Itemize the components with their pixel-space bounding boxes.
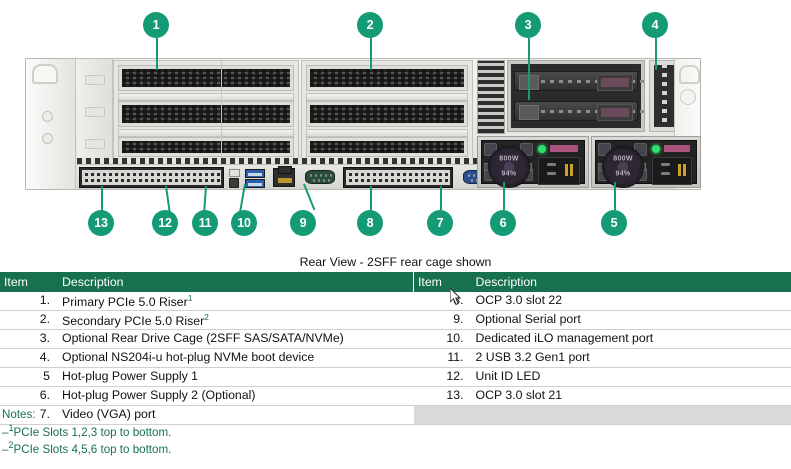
table-row: 2.Secondary PCIe 5.0 Riser29.Optional Se… (0, 311, 791, 330)
drive-cage-interior (511, 64, 641, 128)
row-description-left: Optional NS204i-u hot-plug NVMe boot dev… (58, 349, 414, 368)
header-description-left: Description (58, 272, 414, 292)
callout-1[interactable]: 1 (143, 12, 169, 38)
screw-icon (42, 133, 53, 144)
serial-port[interactable] (305, 170, 335, 184)
uid-label-icon (229, 169, 240, 177)
row-item-number-right: 9. (414, 311, 472, 330)
callout-leader-line (655, 38, 657, 70)
psu-efficiency-label: 94% (603, 171, 643, 178)
primary-pcie-riser (113, 60, 299, 160)
row-description-left: Primary PCIe 5.0 Riser1 (58, 292, 414, 311)
usb-port-lower[interactable] (245, 179, 265, 188)
slot-divider (306, 129, 468, 137)
psu-power-socket[interactable] (652, 157, 692, 185)
pcie-slot (306, 101, 468, 127)
io-port-row (77, 164, 477, 189)
callout-3[interactable]: 3 (515, 12, 541, 38)
row-item-number-right (414, 406, 472, 425)
server-rear-view-diagram: 800W 94% (0, 0, 791, 250)
pcie-slot (306, 65, 468, 91)
psu-fan: 800W 94% (488, 146, 530, 188)
latch-hook-icon (679, 65, 700, 84)
row-item-number-right: 12. (414, 368, 472, 387)
slot-divider (118, 93, 294, 101)
callout-leader-line (440, 186, 442, 210)
row-description-right: OCP 3.0 slot 22 (472, 292, 791, 311)
header-description-right: Description (472, 272, 791, 292)
pcie-slot (306, 137, 468, 157)
callout-leader-line (614, 182, 616, 210)
psu-efficiency-label: 94% (489, 171, 529, 178)
header-item-left: Item (0, 272, 58, 292)
psu-wattage-label: 800W (603, 156, 643, 163)
bracket-tab (85, 75, 105, 85)
row-description-left: Hot-plug Power Supply 2 (Optional) (58, 387, 414, 406)
row-description-right: OCP 3.0 slot 21 (472, 387, 791, 406)
drive-bay-upper[interactable] (514, 71, 638, 91)
table-row: 6.Hot-plug Power Supply 2 (Optional)13.O… (0, 387, 791, 406)
row-description-right: Dedicated iLO management port (472, 330, 791, 349)
chassis-side-vent (477, 60, 505, 134)
legend-table: Rear View - 2SFF rear cage shown Item De… (0, 252, 791, 425)
callout-7[interactable]: 7 (427, 210, 453, 236)
notes-heading: Notes: (2, 408, 171, 422)
psu-fan: 800W 94% (602, 146, 644, 188)
callout-leader-line (203, 186, 207, 212)
pcie-slot (118, 101, 294, 127)
row-description-right: Optional Serial port (472, 311, 791, 330)
left-mounting-ear (26, 59, 76, 189)
row-item-number-right: 10. (414, 330, 472, 349)
notes-block: Notes: –1PCIe Slots 1,2,3 top to bottom.… (2, 408, 171, 456)
table-row: 1.Primary PCIe 5.0 Riser18.OCP 3.0 slot … (0, 292, 791, 311)
callout-leader-line (370, 186, 372, 210)
row-item-number-left: 4. (0, 349, 58, 368)
row-description-right: Unit ID LED (472, 368, 791, 387)
table-row: 4.Optional NS204i-u hot-plug NVMe boot d… (0, 349, 791, 368)
callout-4[interactable]: 4 (642, 12, 668, 38)
callout-6[interactable]: 6 (490, 210, 516, 236)
table-row: 5Hot-plug Power Supply 112.Unit ID LED (0, 368, 791, 387)
pcie-slot (118, 137, 294, 157)
power-supply-1[interactable]: 800W 94% (591, 136, 701, 188)
psu-handle-tab (550, 145, 578, 152)
row-item-number-right: 11. (414, 349, 472, 368)
table-row: 3.Optional Rear Drive Cage (2SFF SAS/SAT… (0, 330, 791, 349)
ilo-management-port[interactable] (273, 168, 295, 187)
slot-divider (306, 93, 468, 101)
row-item-number-right: 13. (414, 387, 472, 406)
callout-leader-line (101, 186, 103, 212)
row-item-number-left: 2. (0, 311, 58, 330)
row-item-number-left: 6. (0, 387, 58, 406)
note-item: –2PCIe Slots 4,5,6 top to bottom. (2, 439, 171, 456)
row-item-number-left: 3. (0, 330, 58, 349)
latch-hook-icon (32, 64, 58, 84)
bracket-tab (85, 107, 105, 117)
riser-bracket (77, 59, 113, 163)
row-item-number-right: 8. (414, 292, 472, 311)
table-body: 1.Primary PCIe 5.0 Riser18.OCP 3.0 slot … (0, 292, 791, 425)
row-description-left: Secondary PCIe 5.0 Riser2 (58, 311, 414, 330)
callout-leader-line (156, 38, 158, 70)
slot-divider (118, 129, 294, 137)
callout-leader-line (528, 38, 530, 100)
callout-5[interactable]: 5 (601, 210, 627, 236)
header-item-right: Item (414, 272, 472, 292)
table-header-row: Item Description Item Description (0, 272, 791, 292)
pcie-slot (118, 65, 294, 91)
callout-12[interactable]: 12 (152, 210, 178, 236)
psu-wattage-label: 800W (489, 156, 529, 163)
psu-status-led (538, 145, 546, 153)
unit-id-led-button[interactable] (229, 178, 239, 188)
row-description-right: 2 USB 3.2 Gen1 port (472, 349, 791, 368)
legend-table-container: Rear View - 2SFF rear cage shown Item De… (0, 252, 791, 425)
ocp-slot-21[interactable] (79, 167, 224, 188)
mouse-cursor-icon (450, 288, 462, 306)
callout-leader-line (503, 182, 505, 210)
secondary-pcie-riser (301, 60, 473, 160)
drive-bay-lower[interactable] (514, 101, 638, 121)
row-description-left: Hot-plug Power Supply 1 (58, 368, 414, 387)
row-item-number-left: 1. (0, 292, 58, 311)
bracket-tab (85, 139, 105, 149)
callout-8[interactable]: 8 (357, 210, 383, 236)
psu-status-led (652, 145, 660, 153)
screw-icon (42, 111, 53, 122)
callout-2[interactable]: 2 (357, 12, 383, 38)
usb-port-upper[interactable] (245, 169, 265, 178)
power-supply-2[interactable]: 800W 94% (477, 136, 589, 188)
notes-list: –1PCIe Slots 1,2,3 top to bottom.–2PCIe … (2, 422, 171, 457)
psu-handle-tab (664, 145, 690, 152)
server-chassis: 800W 94% (25, 58, 701, 190)
callout-10[interactable]: 10 (231, 210, 257, 236)
table-title: Rear View - 2SFF rear cage shown (0, 252, 791, 272)
thumbscrew-icon (680, 89, 696, 105)
note-item: –1PCIe Slots 1,2,3 top to bottom. (2, 422, 171, 439)
callout-9[interactable]: 9 (290, 210, 316, 236)
psu-power-socket[interactable] (538, 157, 580, 185)
row-description-left: Optional Rear Drive Cage (2SFF SAS/SATA/… (58, 330, 414, 349)
ocp-slot-22[interactable] (343, 167, 453, 188)
callout-leader-line (370, 38, 372, 70)
row-item-number-left: 5 (0, 368, 58, 387)
row-description-right (472, 406, 791, 425)
callout-13[interactable]: 13 (88, 210, 114, 236)
callout-11[interactable]: 11 (192, 210, 218, 236)
